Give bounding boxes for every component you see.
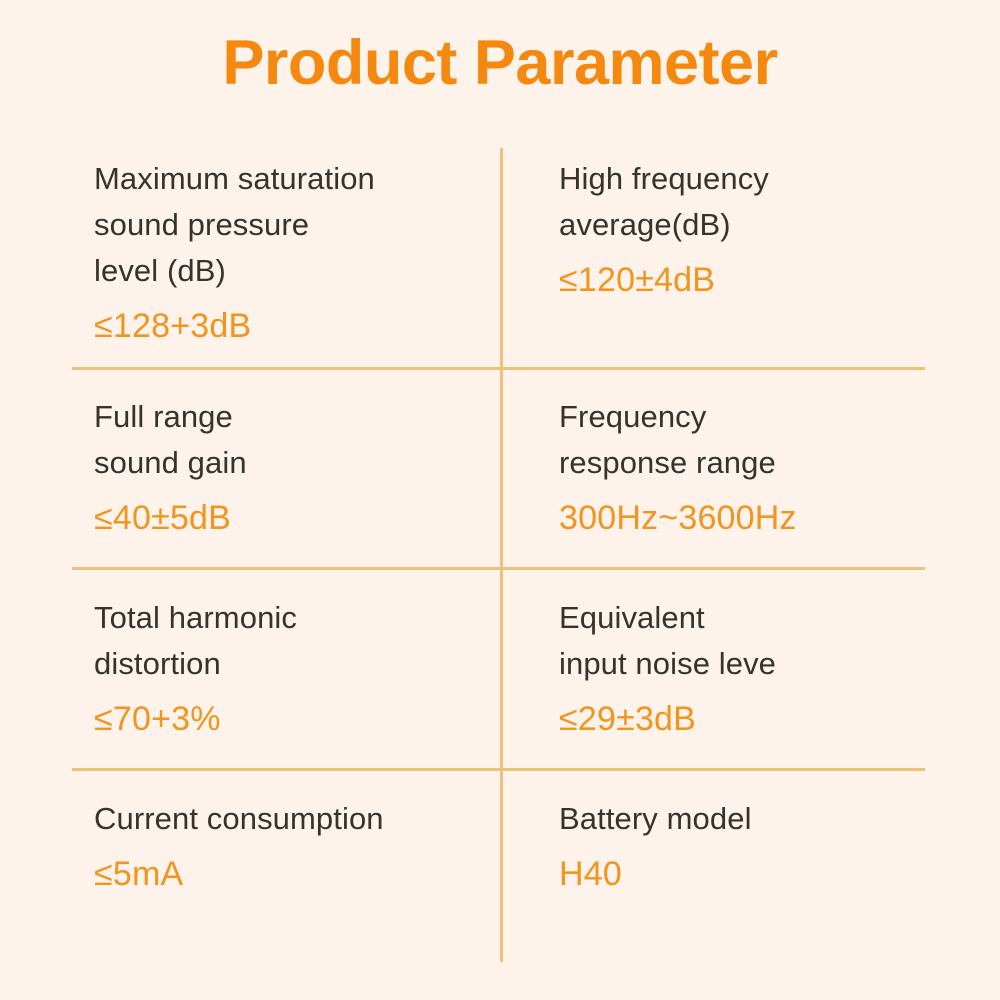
spec-value: ≤120±4dB [559,259,939,301]
spec-label: Full range sound gain [94,394,494,486]
spec-cell: Full range sound gain ≤40±5dB [94,394,494,539]
spec-label: Total harmonic distortion [94,595,494,687]
spec-label: Current consumption [94,796,494,842]
spec-value: ≤5mA [94,853,494,895]
spec-label: Frequency response range [559,394,939,486]
spec-cell: Maximum saturation sound pressure level … [94,156,494,347]
spec-cell: Equivalent input noise leve ≤29±3dB [559,595,939,740]
spec-cell: Total harmonic distortion ≤70+3% [94,595,494,740]
spec-value: ≤40±5dB [94,497,494,539]
spec-label: Maximum saturation sound pressure level … [94,156,494,294]
row-divider-3 [72,768,925,771]
spec-value: 300Hz~3600Hz [559,497,939,539]
spec-cell: Frequency response range 300Hz~3600Hz [559,394,939,539]
spec-cell: Current consumption ≤5mA [94,796,494,895]
spec-label: High frequency average(dB) [559,156,939,248]
spec-label: Equivalent input noise leve [559,595,939,687]
spec-value: ≤29±3dB [559,698,939,740]
spec-value: ≤128+3dB [94,305,494,347]
spec-cell: Battery model H40 [559,796,939,895]
product-parameter-page: Product Parameter Maximum saturation sou… [0,0,1000,1000]
spec-label: Battery model [559,796,939,842]
spec-table: Maximum saturation sound pressure level … [72,148,925,962]
row-divider-2 [72,567,925,570]
column-divider [500,148,503,962]
spec-value: ≤70+3% [94,698,494,740]
spec-cell: High frequency average(dB) ≤120±4dB [559,156,939,301]
page-title: Product Parameter [0,32,1000,95]
row-divider-1 [72,367,925,370]
spec-value: H40 [559,853,939,895]
